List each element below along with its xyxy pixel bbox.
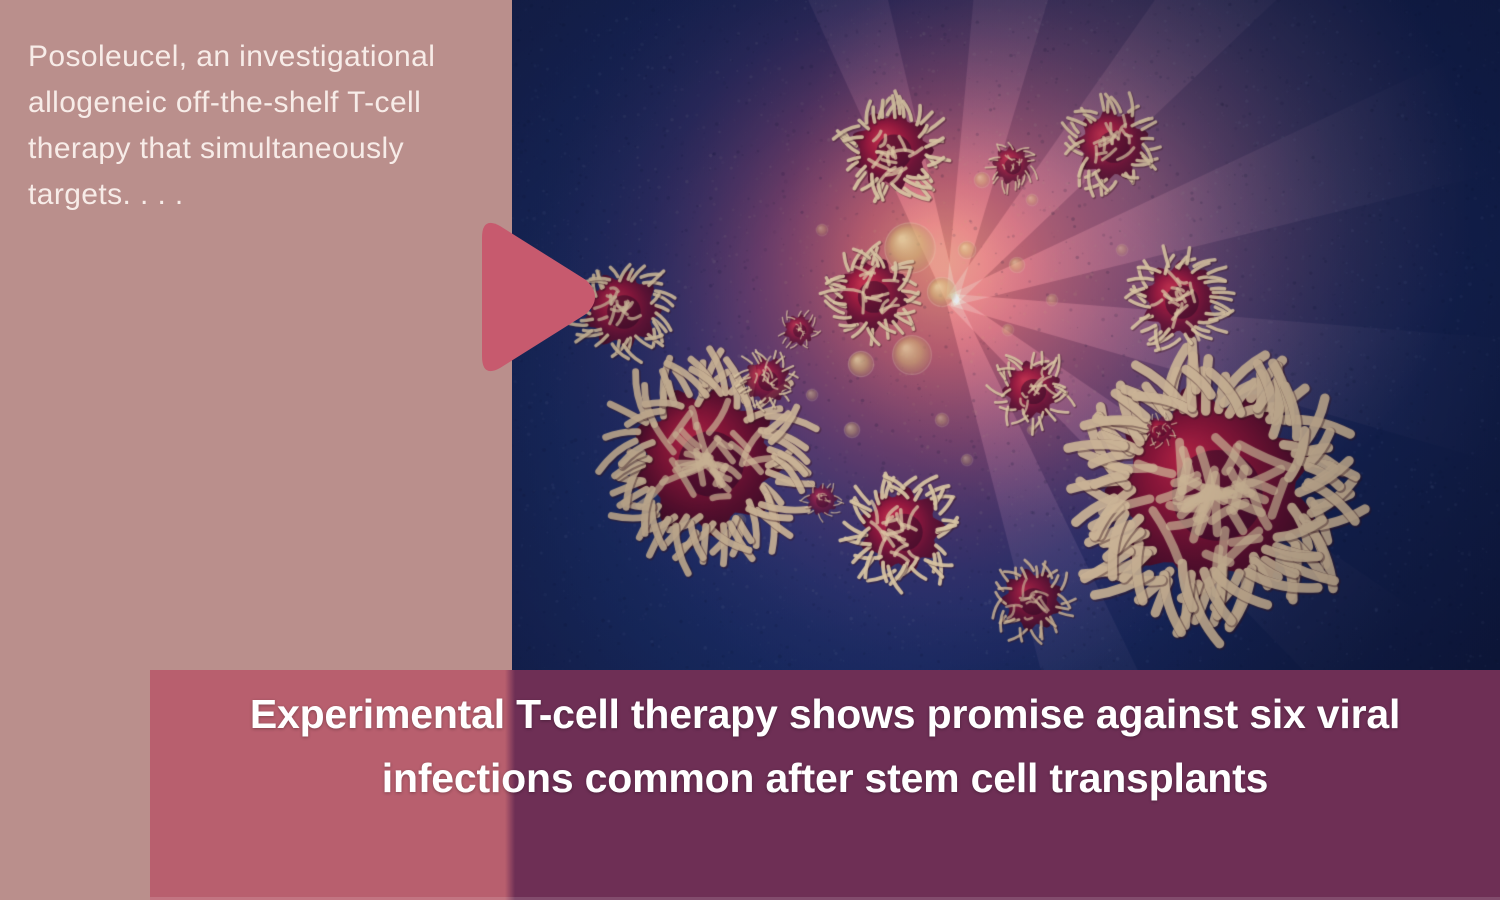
article-headline: Experimental T-cell therapy shows promis… [150, 682, 1500, 810]
play-button[interactable] [464, 212, 598, 382]
news-video-card: Posoleucel, an investigational allogenei… [0, 0, 1500, 900]
headline-caption-bar: Experimental T-cell therapy shows promis… [150, 670, 1500, 900]
play-triangle-icon [464, 212, 598, 382]
article-excerpt-text: Posoleucel, an investigational allogenei… [28, 34, 498, 218]
